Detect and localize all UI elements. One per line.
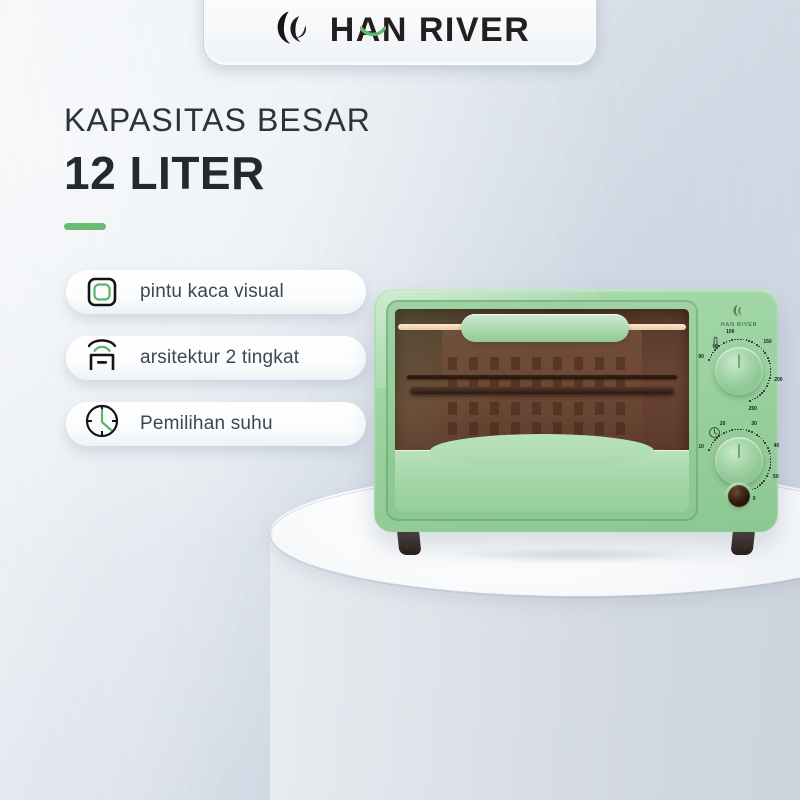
dial-mark: 30 xyxy=(751,421,757,427)
dial-tick xyxy=(767,383,769,385)
dial-tick xyxy=(754,398,756,400)
dial-tick xyxy=(770,461,772,463)
feature-label: Pemilihan suhu xyxy=(140,413,273,435)
dial-mark: 20 xyxy=(720,421,726,427)
dial-mark: 250 xyxy=(749,406,757,412)
dial-tick xyxy=(765,478,767,480)
dial-tick xyxy=(729,430,731,432)
dial-tick xyxy=(766,445,768,447)
dial-tick xyxy=(746,429,748,431)
dial-tick xyxy=(765,388,767,390)
feature-pill-glass-door[interactable]: pintu kaca visual xyxy=(66,270,366,314)
dial-tick xyxy=(710,357,712,359)
oven-door-handle[interactable] xyxy=(461,314,629,342)
dial-tick xyxy=(767,473,769,475)
dial-tick xyxy=(718,435,720,437)
dial-tick xyxy=(708,359,710,361)
dial-tick xyxy=(761,482,763,484)
cavity-texture-row xyxy=(448,402,636,415)
dial-tick xyxy=(761,438,763,440)
dial-tick xyxy=(763,390,765,392)
headline-kicker: KAPASITAS BESAR xyxy=(64,104,484,138)
dial-tick xyxy=(734,339,736,341)
power-indicator-light[interactable] xyxy=(728,485,750,507)
dial-mark: 100 xyxy=(726,329,734,335)
dial-tick xyxy=(711,354,713,356)
dial-tick xyxy=(769,453,771,455)
dial-tick xyxy=(758,346,760,348)
dial-tick xyxy=(743,339,745,341)
dial-tick xyxy=(721,434,723,436)
dial-tick xyxy=(770,368,772,370)
dial-mark: 40 xyxy=(774,443,780,449)
dial-tick xyxy=(718,345,720,347)
dial-tick xyxy=(726,341,728,343)
dial-tick xyxy=(764,352,766,354)
dial-tick xyxy=(754,488,756,490)
han-river-swoosh-logo-icon xyxy=(270,7,316,53)
dial-tick xyxy=(761,348,763,350)
dial-tick xyxy=(712,442,714,444)
dial-tick xyxy=(737,429,739,431)
dial-tick xyxy=(726,431,728,433)
dial-tick xyxy=(740,429,742,431)
ad-canvas: HAN RIVER KAPASITAS BESAR 12 LITER pintu… xyxy=(0,0,800,800)
temperature-knob[interactable] xyxy=(715,347,763,395)
dial-tick xyxy=(768,360,770,362)
product-shadow xyxy=(388,547,764,563)
dial-mark: 50 xyxy=(773,474,779,480)
oven-rack xyxy=(410,387,675,394)
cavity-texture-row xyxy=(448,422,636,435)
feature-pill-two-tier[interactable]: arsitektur 2 tingkat xyxy=(66,336,366,380)
knob-pointer xyxy=(738,444,740,458)
dial-tick xyxy=(752,399,754,401)
dial-tick xyxy=(716,437,718,439)
dial-tick xyxy=(767,357,769,359)
dial-tick xyxy=(729,340,731,342)
dial-tick xyxy=(754,343,756,345)
dial-tick xyxy=(764,442,766,444)
knob-pointer xyxy=(738,354,740,368)
dial-tick xyxy=(763,480,765,482)
dial-tick xyxy=(766,475,768,477)
dial-tick xyxy=(748,430,750,432)
oven-body: HAN RIVER 90100150200250 102030405060 xyxy=(374,289,778,532)
dial-mark: 150 xyxy=(763,339,771,345)
dial-tick xyxy=(767,447,769,449)
brand-banner: HAN RIVER xyxy=(203,0,597,66)
brand-lockup: HAN RIVER xyxy=(270,7,531,53)
dial-tick xyxy=(746,339,748,341)
dial-tick xyxy=(768,380,770,382)
dial-tick xyxy=(766,385,768,387)
headline-hero: 12 LITER xyxy=(64,148,484,200)
two-tier-heat-icon xyxy=(82,334,122,374)
dial-tick xyxy=(770,374,772,376)
dial-tick xyxy=(759,484,761,486)
dial-tick xyxy=(770,366,772,368)
brand-name: HAN RIVER xyxy=(330,13,531,47)
dial-tick xyxy=(740,339,742,341)
cavity-texture-row xyxy=(448,357,636,370)
headline-block: KAPASITAS BESAR 12 LITER xyxy=(64,104,484,230)
panel-brand-name: HAN RIVER xyxy=(721,322,758,328)
feature-pill-temperature[interactable]: Pemilihan suhu xyxy=(66,402,366,446)
feature-list: pintu kaca visual arsitektur 2 tingkat xyxy=(66,270,366,468)
dial-tick xyxy=(770,464,772,466)
dial-tick xyxy=(770,456,772,458)
brand-name-text: HAN RIVER xyxy=(330,11,531,49)
dial-tick xyxy=(766,355,768,357)
dial-tick xyxy=(770,371,772,373)
feature-label: arsitektur 2 tingkat xyxy=(140,347,299,369)
dial-tick xyxy=(751,431,753,433)
dial-tick xyxy=(721,344,723,346)
dial-tick xyxy=(716,347,718,349)
dial-tick xyxy=(769,363,771,365)
dial-tick xyxy=(708,449,710,451)
temperature-dial-icon xyxy=(82,401,122,441)
oven-rod xyxy=(407,375,677,379)
dial-tick xyxy=(737,339,739,341)
dial-tick xyxy=(731,429,733,431)
oven-control-panel: HAN RIVER 90100150200250 102030405060 xyxy=(700,289,778,532)
dial-tick xyxy=(768,450,770,452)
dial-tick xyxy=(769,467,771,469)
dial-tick xyxy=(712,352,714,354)
dial-tick xyxy=(754,433,756,435)
dial-mark: 200 xyxy=(774,377,782,383)
dial-tick xyxy=(757,396,759,398)
dial-tick xyxy=(761,392,763,394)
dial-tick xyxy=(757,486,759,488)
dial-tick xyxy=(759,394,761,396)
panel-brand-lockup: HAN RIVER xyxy=(721,303,758,328)
dial-mark: 90 xyxy=(698,354,704,360)
dial-tick xyxy=(768,470,770,472)
dial-tick xyxy=(710,447,712,449)
timer-knob[interactable] xyxy=(715,437,763,485)
dial-tick xyxy=(770,458,772,460)
dial-tick xyxy=(723,342,725,344)
dial-tick xyxy=(769,377,771,379)
dial-tick xyxy=(749,400,751,402)
dial-tick xyxy=(723,432,725,434)
dial-tick xyxy=(758,436,760,438)
product-oven: HAN RIVER 90100150200250 102030405060 xyxy=(374,289,778,532)
accent-divider xyxy=(64,223,106,230)
dial-tick xyxy=(743,429,745,431)
dial-tick xyxy=(748,340,750,342)
oven-door-lip xyxy=(395,450,689,512)
dial-tick xyxy=(731,339,733,341)
dial-tick xyxy=(734,429,736,431)
feature-label: pintu kaca visual xyxy=(140,281,284,303)
dial-tick xyxy=(711,444,713,446)
dial-tick xyxy=(714,439,716,441)
dial-tick xyxy=(751,341,753,343)
glass-door-icon xyxy=(82,272,122,312)
dial-tick xyxy=(714,349,716,351)
oven-glass-door[interactable] xyxy=(386,300,698,521)
han-river-swoosh-logo-icon xyxy=(731,303,748,320)
dial-mark: 10 xyxy=(698,444,704,450)
